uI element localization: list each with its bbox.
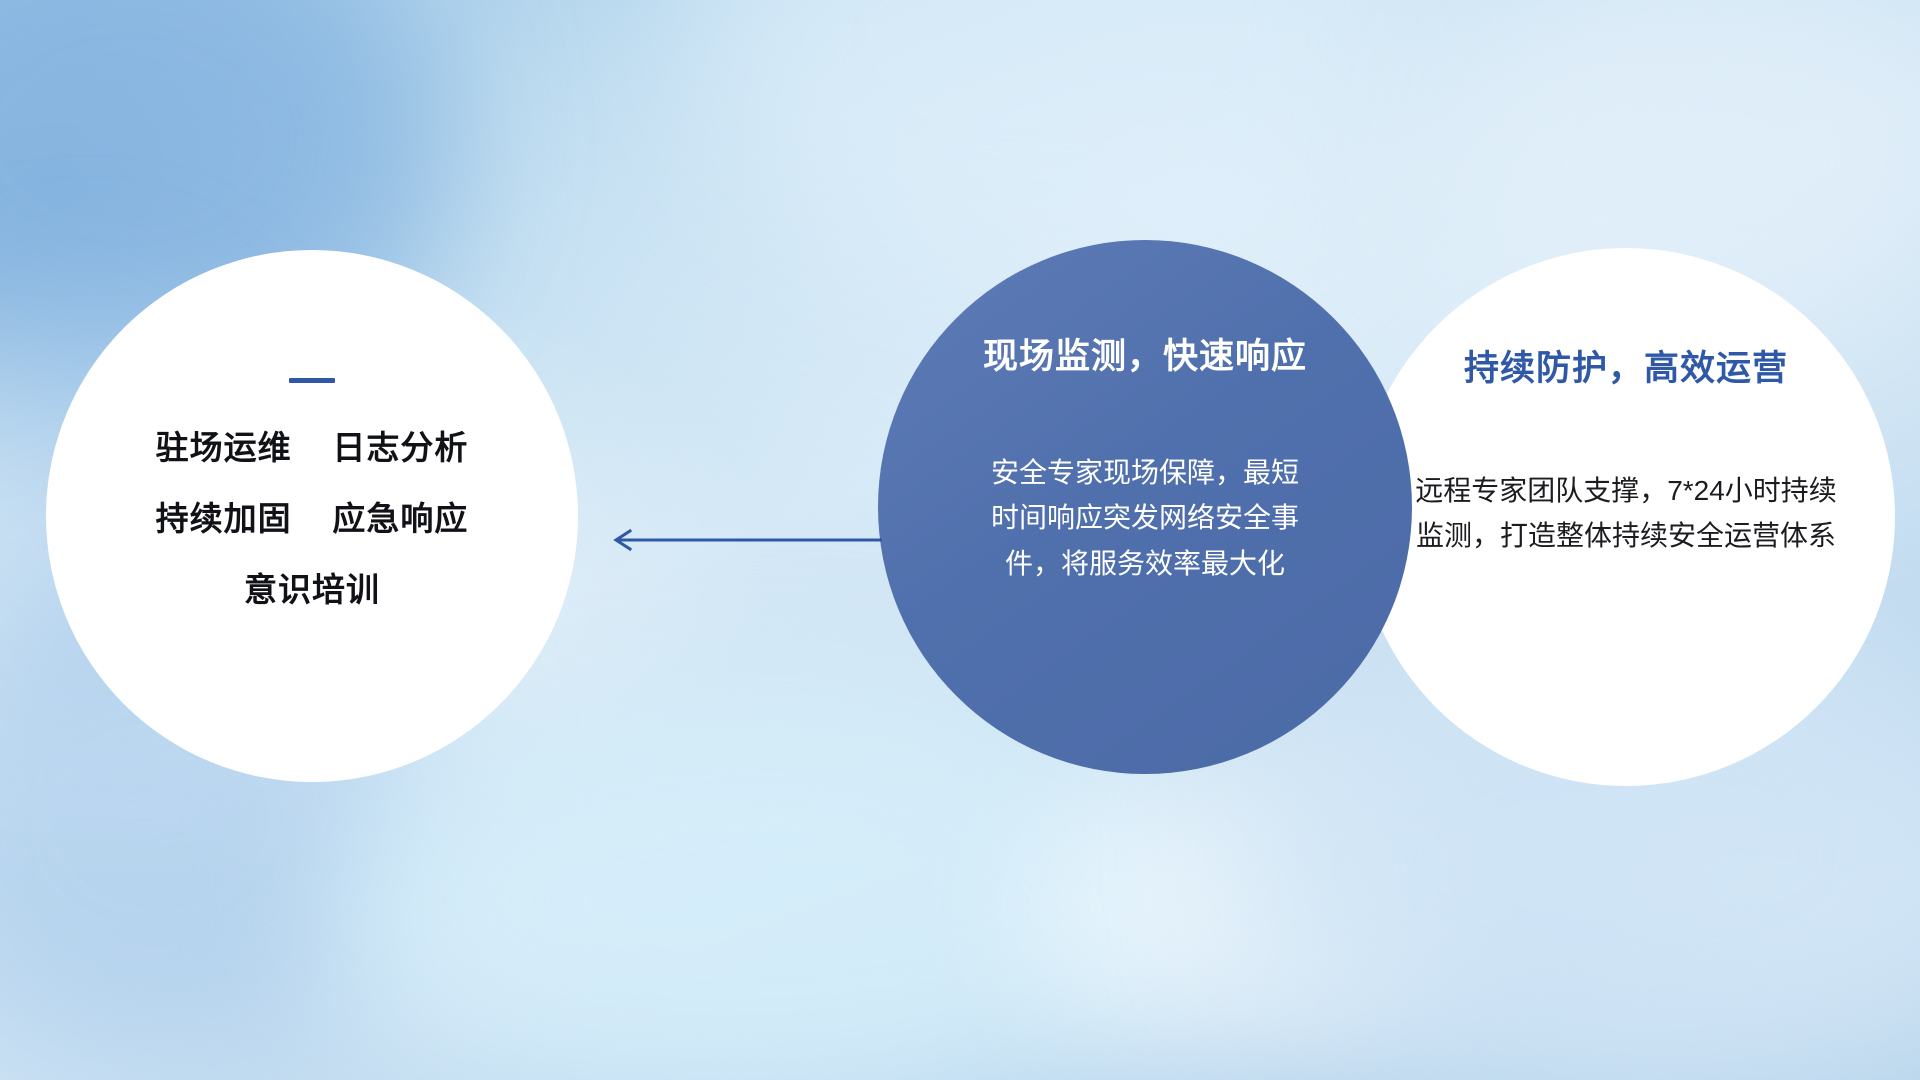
background-blob-top (700, 0, 1400, 280)
middle-circle-content: 现场监测，快速响应 安全专家现场保障，最短时间响应突发网络安全事件，将服务效率最… (878, 240, 1412, 586)
left-circle-content: 驻场运维 日志分析 持续加固 应急响应 意识培训 (46, 250, 578, 606)
right-circle-body: 远程专家团队支撑，7*24小时持续监测，打造整体持续安全运营体系 (1411, 468, 1841, 559)
right-circle-title: 持续防护，高效运营 (1357, 348, 1895, 390)
middle-circle-title: 现场监测，快速响应 (878, 336, 1412, 378)
slide-canvas: 驻场运维 日志分析 持续加固 应急响应 意识培训 持续防护，高效运营 远程专家团… (0, 0, 1920, 1080)
middle-circle-body: 安全专家现场保障，最短时间响应突发网络安全事件，将服务效率最大化 (987, 450, 1303, 586)
middle-service-circle[interactable]: 现场监测，快速响应 安全专家现场保障，最短时间响应突发网络安全事件，将服务效率最… (878, 240, 1412, 774)
accent-dash-icon (289, 378, 335, 383)
left-circle-line-3: 意识培训 (46, 573, 578, 606)
right-circle-content: 持续防护，高效运营 远程专家团队支撑，7*24小时持续监测，打造整体持续安全运营… (1357, 248, 1895, 559)
left-circle-line-1: 驻场运维 日志分析 (46, 431, 578, 464)
connector-arrow (600, 527, 882, 553)
right-service-circle[interactable]: 持续防护，高效运营 远程专家团队支撑，7*24小时持续监测，打造整体持续安全运营… (1357, 248, 1895, 786)
left-service-circle[interactable]: 驻场运维 日志分析 持续加固 应急响应 意识培训 (46, 250, 578, 782)
left-circle-line-2: 持续加固 应急响应 (46, 502, 578, 535)
background-blob-bottom-mid (1040, 760, 1460, 1060)
